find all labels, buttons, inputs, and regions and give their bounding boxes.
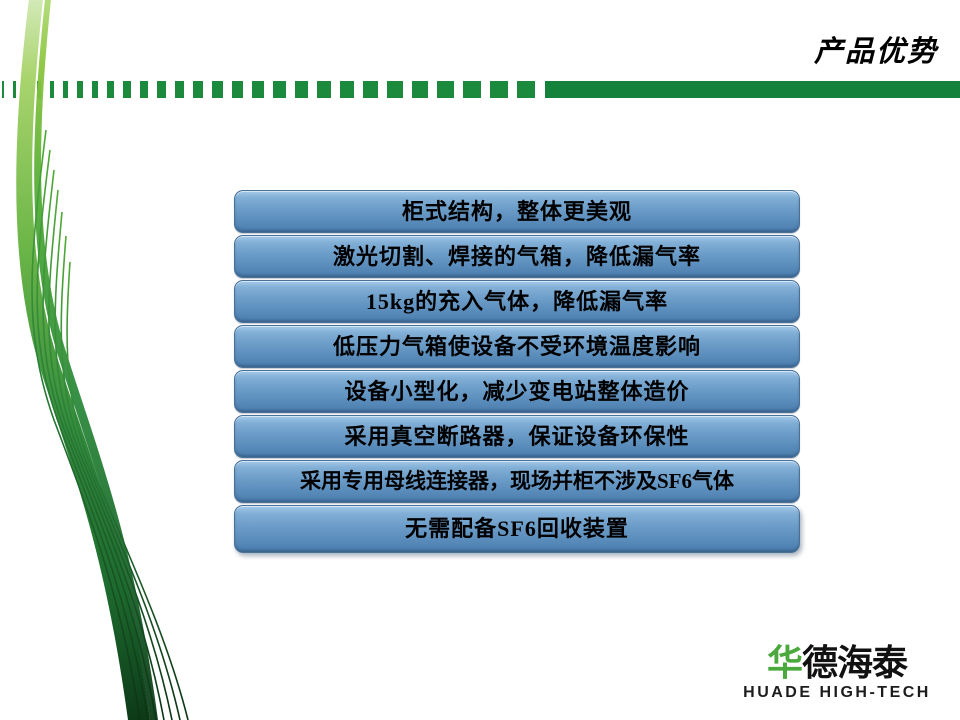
header-band-dash xyxy=(517,81,536,98)
advantage-box-2[interactable]: 激光切割、焊接的气箱，降低漏气率 xyxy=(234,235,800,278)
advantage-label: 激光切割、焊接的气箱，降低漏气率 xyxy=(333,246,701,268)
header-band-dash xyxy=(463,81,481,98)
header-band-dash xyxy=(317,81,331,98)
header-band-dash xyxy=(363,81,378,98)
header-band-dash xyxy=(25,81,28,98)
advantage-label: 低压力气箱使设备不受环境温度影响 xyxy=(333,336,701,358)
header-band-dash xyxy=(212,81,223,98)
header-band-dash xyxy=(50,81,54,98)
header-green-band xyxy=(0,81,960,98)
header-band-dash xyxy=(387,81,403,98)
advantage-label: 柜式结构，整体更美观 xyxy=(402,201,632,223)
header-band-dash xyxy=(63,81,68,98)
header-band-solid-segment xyxy=(545,81,960,98)
header-band-dash xyxy=(412,81,428,98)
header-band-dash xyxy=(92,81,98,98)
advantage-label: 采用真空断路器，保证设备环保性 xyxy=(344,426,689,448)
advantage-label: 无需配备SF6回收装置 xyxy=(405,518,629,540)
header-band-dash xyxy=(295,81,308,98)
advantage-label: 设备小型化，减少变电站整体造价 xyxy=(344,381,689,403)
advantage-box-6[interactable]: 采用真空断路器，保证设备环保性 xyxy=(234,415,800,458)
header-band-dash xyxy=(340,81,354,98)
advantage-box-3[interactable]: 15kg的充入气体，降低漏气率 xyxy=(234,280,800,323)
header-band-dash xyxy=(2,81,4,98)
advantage-box-5[interactable]: 设备小型化，减少变电站整体造价 xyxy=(234,370,800,413)
header-band-dash xyxy=(13,81,16,98)
advantage-box-7[interactable]: 采用专用母线连接器，现场并柜不涉及SF6气体 xyxy=(234,460,800,503)
header-band-dash xyxy=(140,81,148,98)
advantage-label: 采用专用母线连接器，现场并柜不涉及SF6气体 xyxy=(300,471,734,492)
advantage-label: 15kg的充入气体，降低漏气率 xyxy=(366,291,668,313)
logo-chinese-name: 华德海泰 xyxy=(732,644,942,682)
header-band-dash xyxy=(107,81,114,98)
header-band-dash xyxy=(193,81,203,98)
header-band-dash xyxy=(252,81,264,98)
green-ribbon-swoosh xyxy=(0,0,200,720)
header-band-dash xyxy=(123,81,131,98)
header-band-dash xyxy=(175,81,184,98)
header-band-dash xyxy=(37,81,41,98)
slide-canvas: 产品优势 xyxy=(0,0,960,720)
logo-english-name: HUADE HIGH-TECH xyxy=(732,684,942,702)
page-title: 产品优势 xyxy=(814,28,938,70)
advantage-box-8[interactable]: 无需配备SF6回收装置 xyxy=(234,505,800,553)
company-logo: 华德海泰 HUADE HIGH-TECH xyxy=(732,644,942,702)
logo-accent-char: 华 xyxy=(767,642,802,683)
header-band-dash xyxy=(490,81,508,98)
header-band-dash xyxy=(77,81,83,98)
advantage-box-4[interactable]: 低压力气箱使设备不受环境温度影响 xyxy=(234,325,800,368)
advantage-box-1[interactable]: 柜式结构，整体更美观 xyxy=(234,190,800,233)
header-band-dash xyxy=(437,81,454,98)
header-band-dash xyxy=(273,81,286,98)
header-band-dash xyxy=(157,81,166,98)
logo-name-rest: 德海泰 xyxy=(802,642,907,683)
advantages-list: 柜式结构，整体更美观 激光切割、焊接的气箱，降低漏气率 15kg的充入气体，降低… xyxy=(234,190,802,553)
header-band-dash xyxy=(232,81,243,98)
